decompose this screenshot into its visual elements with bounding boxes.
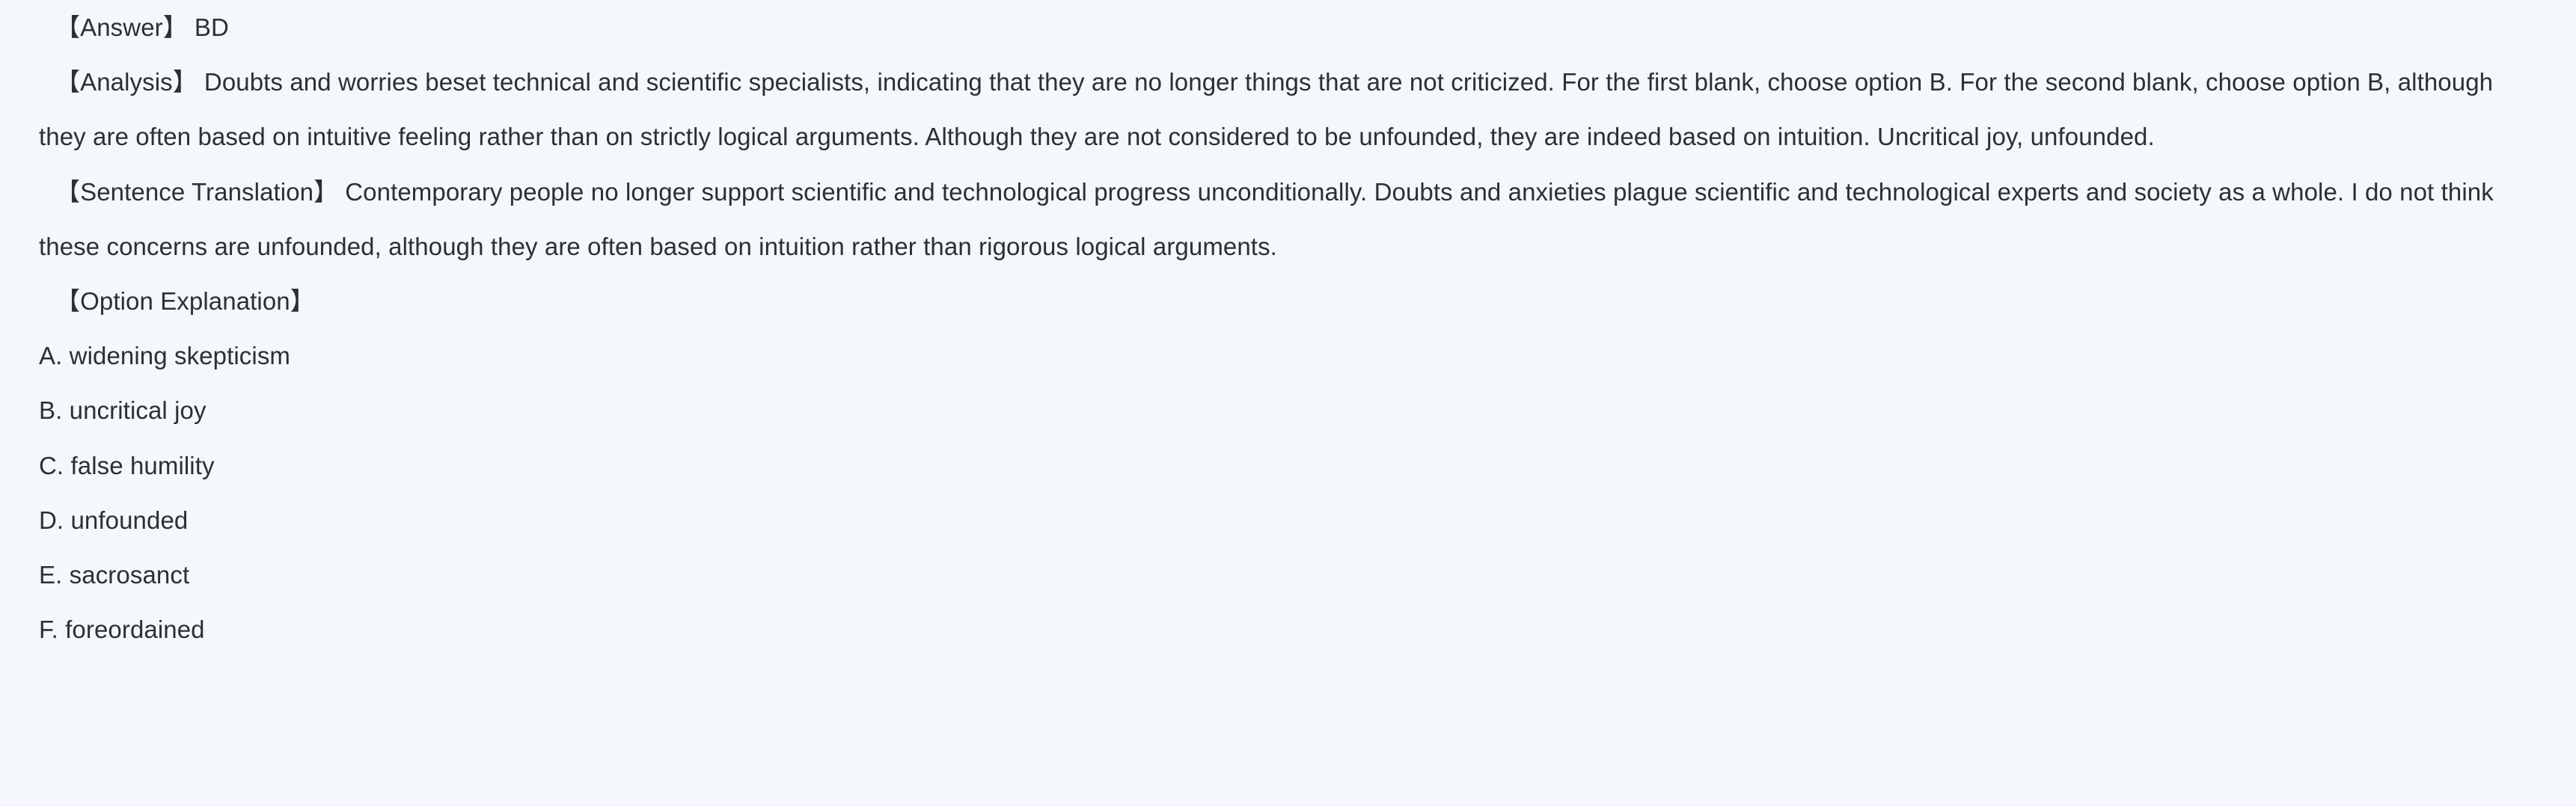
answer-line: 【Answer】BD [39, 0, 2537, 55]
option-item-d: D. unfounded [39, 493, 2537, 547]
explanation-page: 【Answer】BD 【Analysis】Doubts and worries … [0, 0, 2576, 807]
option-item-b: B. uncritical joy [39, 383, 2537, 438]
analysis-paragraph: 【Analysis】Doubts and worries beset techn… [39, 55, 2537, 164]
option-item-f: F. foreordained [39, 602, 2537, 657]
answer-marker: 【Answer】 [55, 13, 188, 41]
analysis-marker: 【Analysis】 [55, 68, 198, 96]
option-item-e: E. sacrosanct [39, 547, 2537, 602]
sentence-translation-text: Contemporary people no longer support sc… [39, 178, 2494, 260]
analysis-text: Doubts and worries beset technical and s… [39, 68, 2493, 150]
option-item-a: A. widening skepticism [39, 328, 2537, 383]
sentence-translation-paragraph: 【Sentence Translation】Contemporary peopl… [39, 165, 2537, 274]
option-explanation-heading: 【Option Explanation】 [39, 274, 2537, 328]
sentence-translation-marker: 【Sentence Translation】 [55, 178, 338, 206]
answer-value: BD [195, 13, 229, 41]
explanation-body: 【Answer】BD 【Analysis】Doubts and worries … [39, 0, 2537, 657]
option-item-c: C. false humility [39, 438, 2537, 493]
